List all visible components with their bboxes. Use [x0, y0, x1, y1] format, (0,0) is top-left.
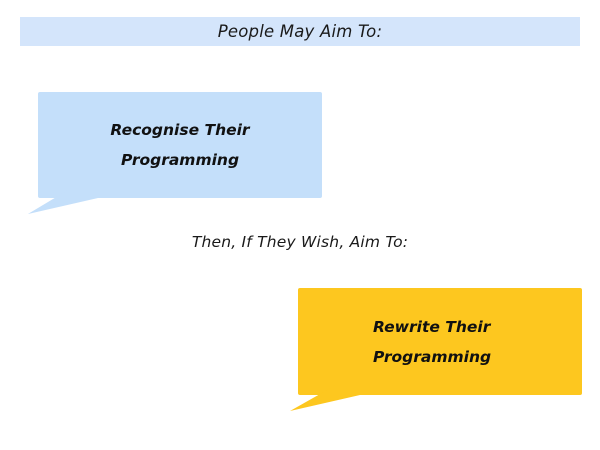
bubble-line: Recognise Their [44, 115, 316, 145]
bubble-text-rewrite: Rewrite Their Programming [298, 312, 582, 372]
bubble-tail-recognise [28, 188, 98, 214]
header-banner: People May Aim To: [20, 17, 580, 46]
header-title: People May Aim To: [218, 22, 383, 41]
bubble-text-recognise: Recognise Their Programming [38, 115, 322, 175]
middle-caption: Then, If They Wish, Aim To: [0, 232, 600, 251]
speech-bubble-rewrite: Rewrite Their Programming [298, 288, 582, 395]
speech-bubble-recognise: Recognise Their Programming [38, 92, 322, 198]
bubble-line: Programming [44, 145, 316, 175]
slide-canvas: People May Aim To: Recognise Their Progr… [0, 0, 600, 450]
bubble-line: Programming [373, 342, 582, 372]
bubble-line: Rewrite Their [373, 312, 582, 342]
bubble-tail-rewrite [290, 385, 360, 411]
middle-caption-text: Then, If They Wish, Aim To: [192, 233, 408, 251]
